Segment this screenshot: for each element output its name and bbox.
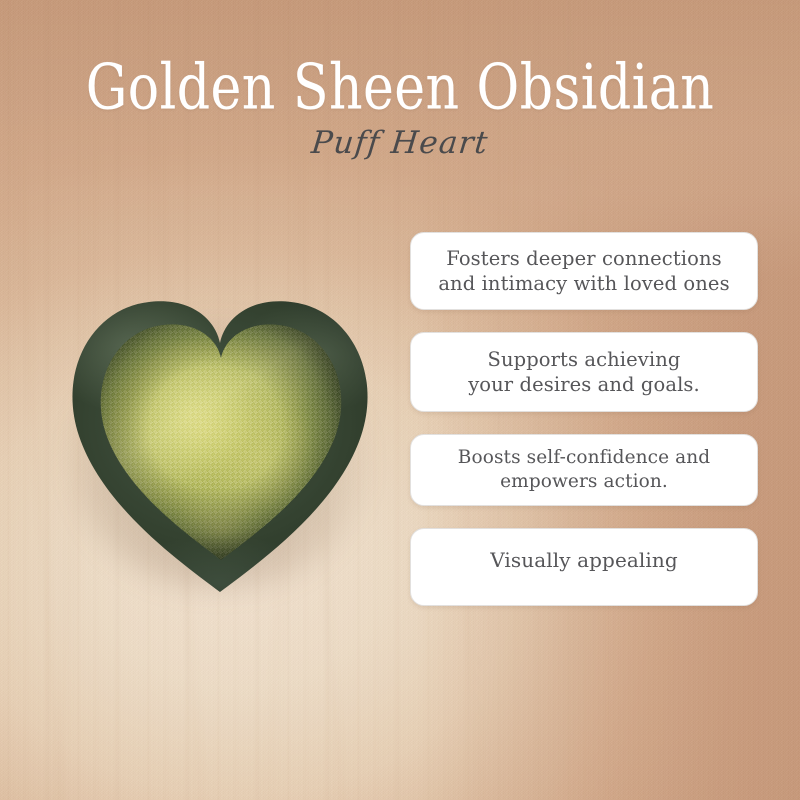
benefit-card-4-text: Visually appealing (490, 547, 678, 573)
benefit-card-2-text: Supports achieving your desires and goal… (468, 347, 700, 398)
benefit-card-1-text: Fosters deeper connections and intimacy … (438, 246, 729, 297)
benefits-list: Fosters deeper connections and intimacy … (410, 232, 758, 606)
benefit-card-1: Fosters deeper connections and intimacy … (410, 232, 758, 310)
product-graphic: Golden Sheen Obsidian Puff Heart Fosters… (0, 0, 800, 800)
product-image-heart-stone (60, 282, 380, 602)
benefit-card-2: Supports achieving your desires and goal… (410, 332, 758, 412)
benefit-card-4: Visually appealing (410, 528, 758, 606)
benefit-card-3-text: Boosts self-confidence and empowers acti… (458, 446, 710, 494)
heart-shape (60, 282, 380, 602)
benefit-card-3: Boosts self-confidence and empowers acti… (410, 434, 758, 506)
